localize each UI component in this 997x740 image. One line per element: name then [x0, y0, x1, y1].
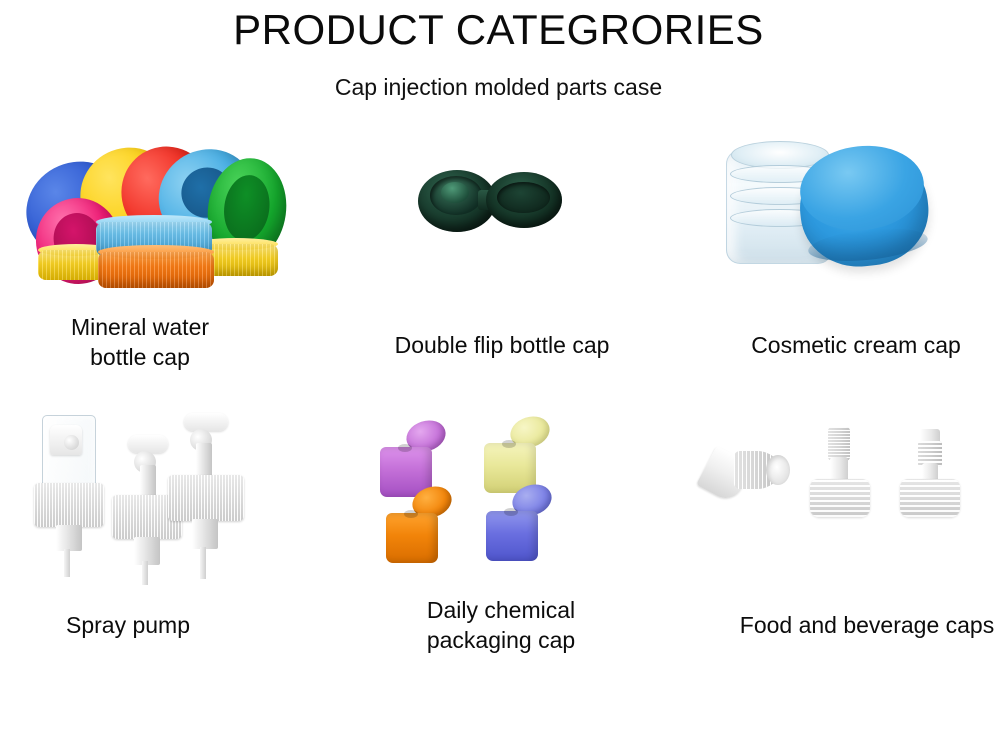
flip-cap-lid	[486, 172, 562, 228]
product-grid: Mineral water bottle cap Double flip bot…	[0, 130, 997, 740]
pump-dip-tube-1	[64, 549, 70, 577]
page-subtitle: Cap injection molded parts case	[0, 72, 997, 102]
pump-head-3	[184, 413, 228, 431]
product-image-mineral-water-bottle-cap	[0, 130, 332, 310]
label-line-1: Mineral water	[0, 312, 306, 342]
product-image-daily-chemical-packaging-cap	[332, 405, 664, 585]
product-label-mineral-water-bottle-cap: Mineral water bottle cap	[0, 312, 306, 372]
lid-edge	[807, 224, 929, 266]
label-line-2: packaging cap	[335, 625, 667, 655]
colored-bottle-caps-pile-icon	[18, 140, 288, 300]
product-card-food-and-beverage-caps[interactable]: Food and beverage caps	[664, 405, 996, 705]
flip-cap-orange-body	[386, 513, 438, 563]
product-card-cosmetic-cream-cap[interactable]: Cosmetic cream cap	[664, 130, 996, 405]
pump-head-2	[128, 435, 168, 453]
pump-collar-1	[34, 483, 104, 527]
pump-dip-tube-2	[142, 561, 148, 585]
product-card-spray-pump[interactable]: Spray pump	[0, 405, 332, 705]
dark-green-flip-cap-icon	[412, 158, 582, 248]
orange-cap-cylinder	[98, 252, 214, 288]
cosmetic-jar-with-blue-lid-icon	[726, 142, 936, 287]
label-line-1: Cosmetic cream cap	[690, 330, 997, 360]
product-card-mineral-water-bottle-cap[interactable]: Mineral water bottle cap	[0, 130, 332, 405]
pump-nozzle-1	[64, 435, 79, 450]
product-label-daily-chemical-packaging-cap: Daily chemical packaging cap	[335, 595, 667, 655]
label-line-1: Food and beverage caps	[701, 610, 997, 640]
spray-pumps-icon	[22, 409, 292, 584]
label-line-2: bottle cap	[0, 342, 306, 372]
pouch-spout-fitments-icon	[700, 421, 970, 571]
spout-flange-2	[810, 479, 870, 517]
product-label-spray-pump: Spray pump	[0, 610, 294, 640]
pump-collar-3	[168, 475, 244, 521]
flip-cap-blue-body	[486, 511, 538, 561]
pump-stem-1	[56, 525, 82, 551]
product-image-food-and-beverage-caps	[664, 405, 996, 585]
product-label-food-and-beverage-caps: Food and beverage caps	[701, 610, 997, 640]
flip-cap-blue	[486, 485, 548, 561]
spout-flange-3	[900, 479, 960, 517]
spout-cap-2	[828, 427, 850, 461]
product-image-cosmetic-cream-cap	[664, 130, 996, 310]
pump-neck-3	[196, 443, 212, 479]
label-line-1: Spray pump	[0, 610, 294, 640]
pump-stem-3	[192, 519, 218, 549]
product-card-daily-chemical-packaging-cap[interactable]: Daily chemical packaging cap	[332, 405, 664, 705]
product-image-double-flip-bottle-cap	[332, 130, 664, 310]
flip-cap-yellow	[484, 417, 546, 493]
product-label-double-flip-bottle-cap: Double flip bottle cap	[336, 330, 668, 360]
page-title: PRODUCT CATEGRORIES	[0, 4, 997, 56]
label-line-1: Double flip bottle cap	[336, 330, 668, 360]
colored-flip-top-caps-icon	[380, 413, 620, 583]
product-card-double-flip-bottle-cap[interactable]: Double flip bottle cap	[332, 130, 664, 405]
poster-root: PRODUCT CATEGRORIES Cap injection molded…	[0, 0, 997, 740]
pump-dip-tube-3	[200, 547, 206, 579]
product-image-spray-pump	[0, 405, 332, 585]
pump-neck-2	[140, 465, 156, 497]
label-line-1: Daily chemical	[335, 595, 667, 625]
flip-cap-orange	[386, 487, 448, 563]
product-label-cosmetic-cream-cap: Cosmetic cream cap	[690, 330, 997, 360]
spout-opening-1	[766, 455, 790, 485]
